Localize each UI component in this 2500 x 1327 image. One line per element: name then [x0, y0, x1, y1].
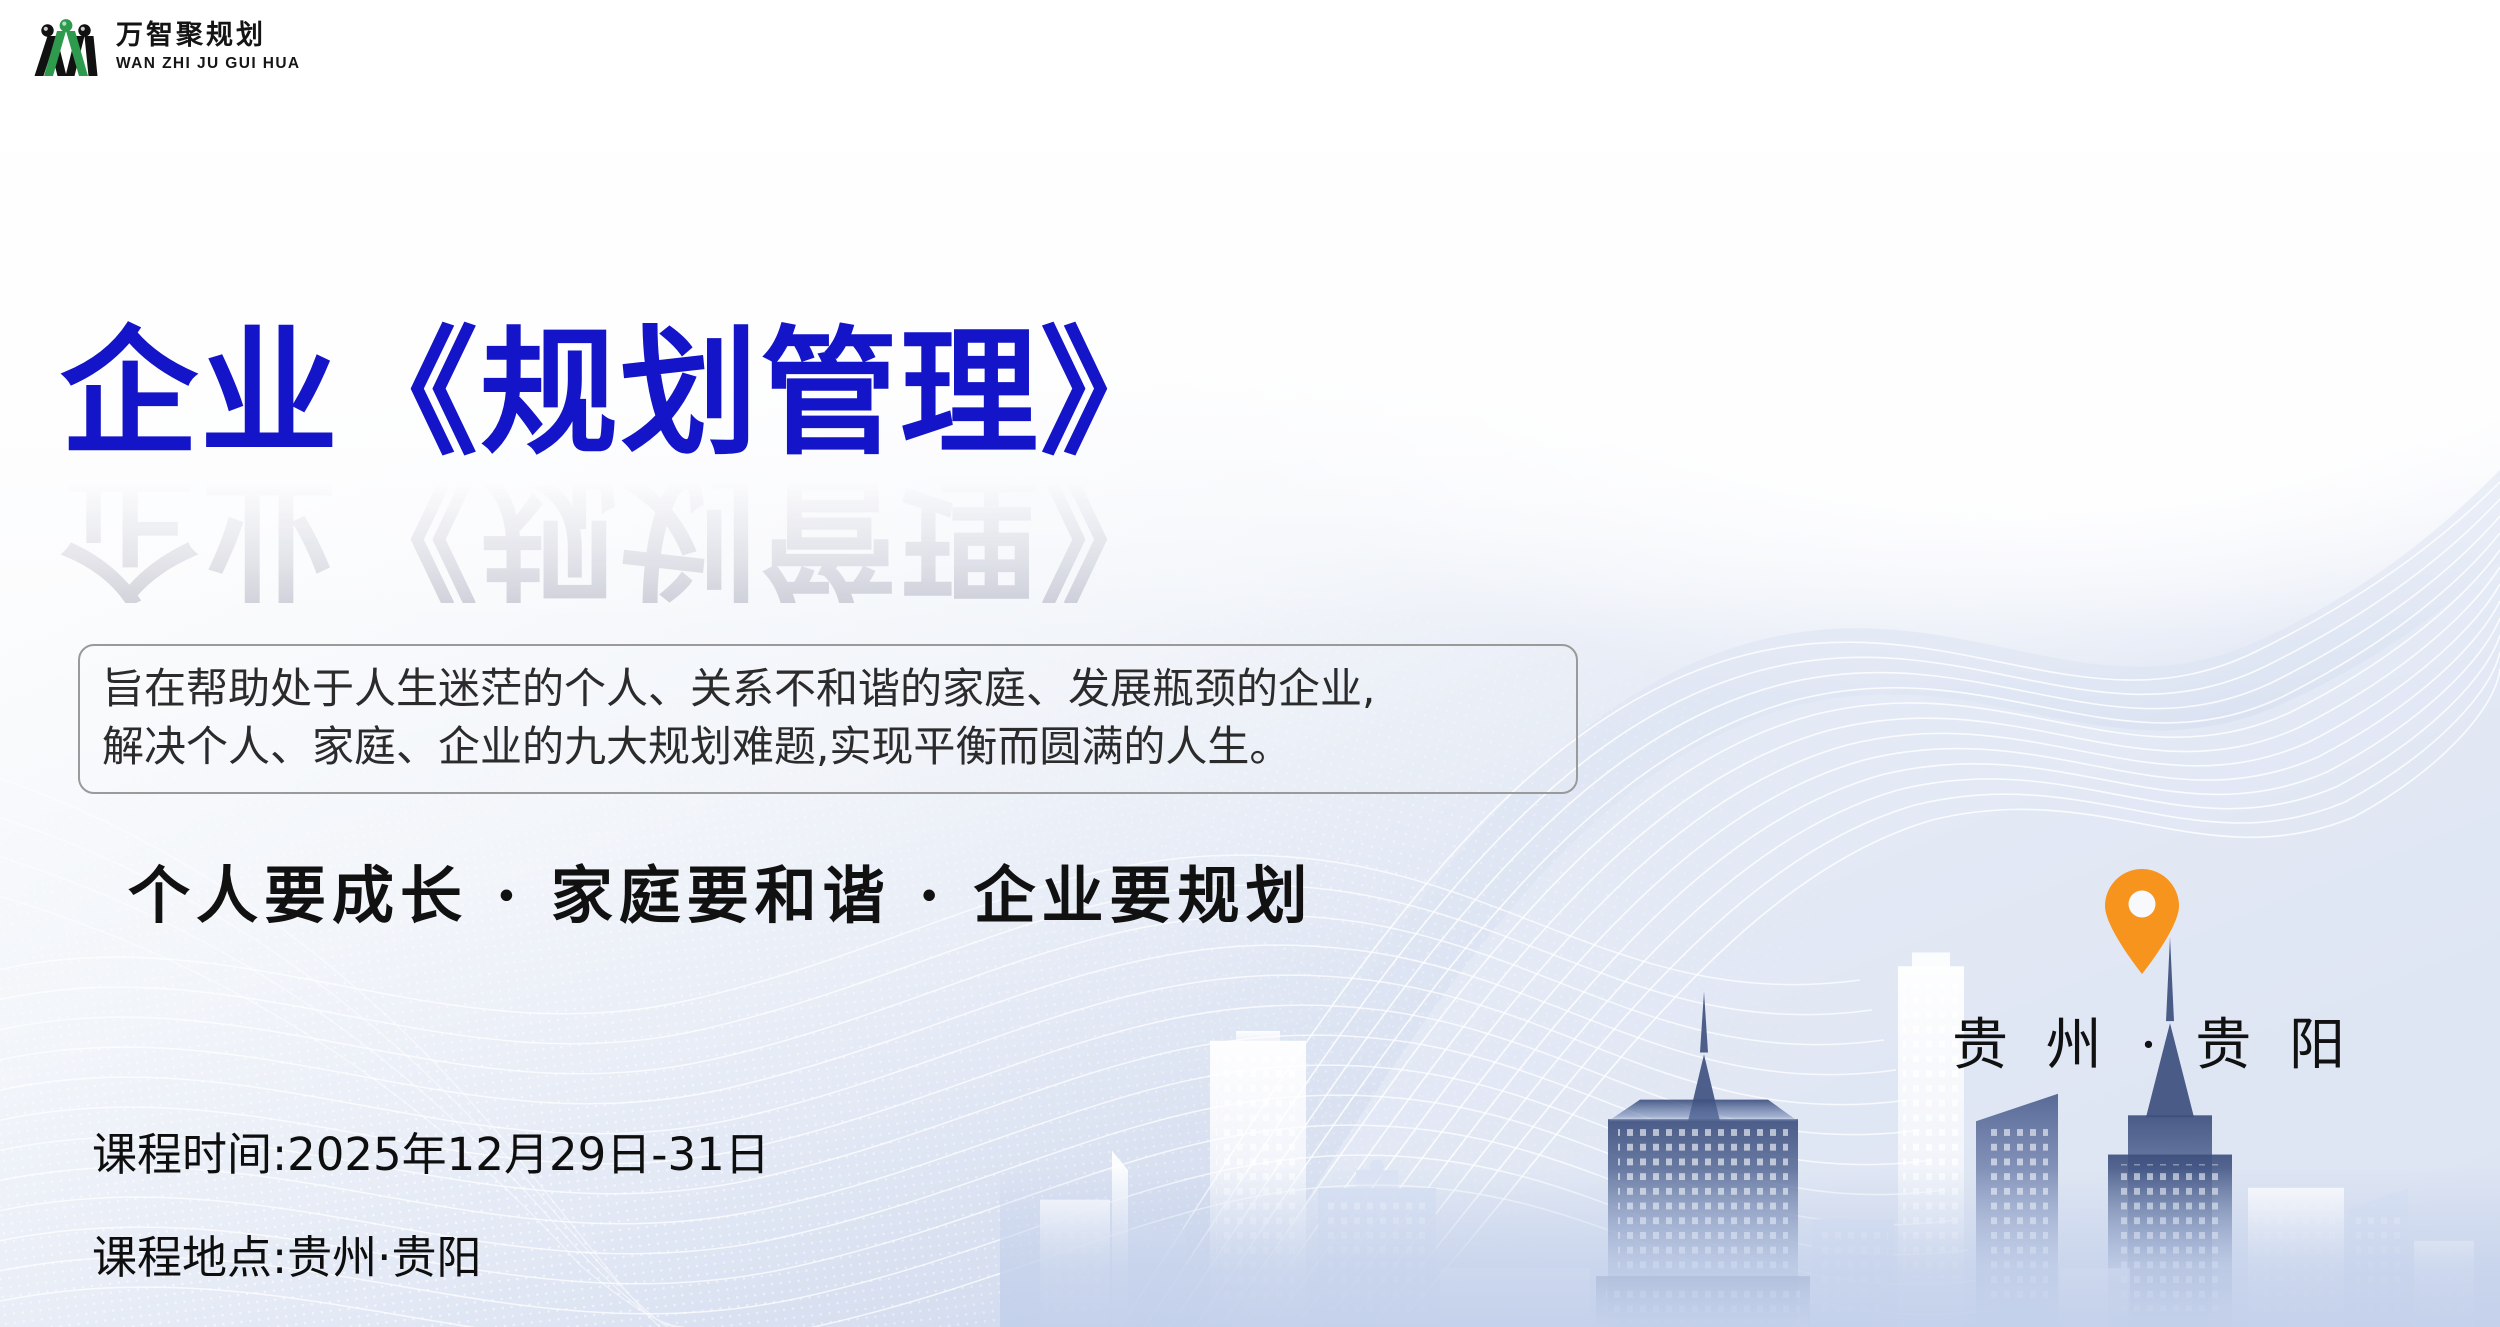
- poster-canvas: 万智聚规划 WAN ZHI JU GUI HUA 企业《规划管理》 企业《规划管…: [0, 0, 2500, 1327]
- page-title-reflection: 企业《规划管理》: [60, 465, 1180, 603]
- brand-logo: 万智聚规划 WAN ZHI JU GUI HUA: [30, 14, 301, 80]
- slogan-text: 个人要成长 · 家庭要和谐 · 企业要规划: [128, 845, 1314, 935]
- page-title: 企业《规划管理》: [60, 325, 1180, 463]
- three-people-logo-icon: [30, 14, 102, 80]
- location-label: 贵 州 · 贵 阳: [1952, 1000, 2332, 1081]
- hero-title-block: 企业《规划管理》 企业《规划管理》: [60, 325, 1180, 603]
- description-line-1: 旨在帮助处于人生迷茫的个人、关系不和谐的家庭、发展瓶颈的企业,: [102, 660, 1554, 718]
- course-place-row: 课程地点:贵州·贵阳: [92, 1221, 770, 1286]
- course-info: 课程时间:2025年12月29日-31日 课程地点:贵州·贵阳: [92, 1118, 770, 1286]
- brand-name-pinyin: WAN ZHI JU GUI HUA: [116, 56, 301, 72]
- location-block: 贵 州 · 贵 阳: [1952, 866, 2332, 1081]
- description-line-2: 解决个人、家庭、企业的九大规划难题,实现平衡而圆满的人生。: [102, 718, 1554, 776]
- brand-name-cn: 万智聚规划: [116, 22, 301, 49]
- course-time-row: 课程时间:2025年12月29日-31日: [92, 1118, 770, 1183]
- brand-wordmark: 万智聚规划 WAN ZHI JU GUI HUA: [116, 22, 301, 72]
- map-pin-icon: [2099, 866, 2185, 976]
- description-box: 旨在帮助处于人生迷茫的个人、关系不和谐的家庭、发展瓶颈的企业, 解决个人、家庭、…: [78, 644, 1578, 794]
